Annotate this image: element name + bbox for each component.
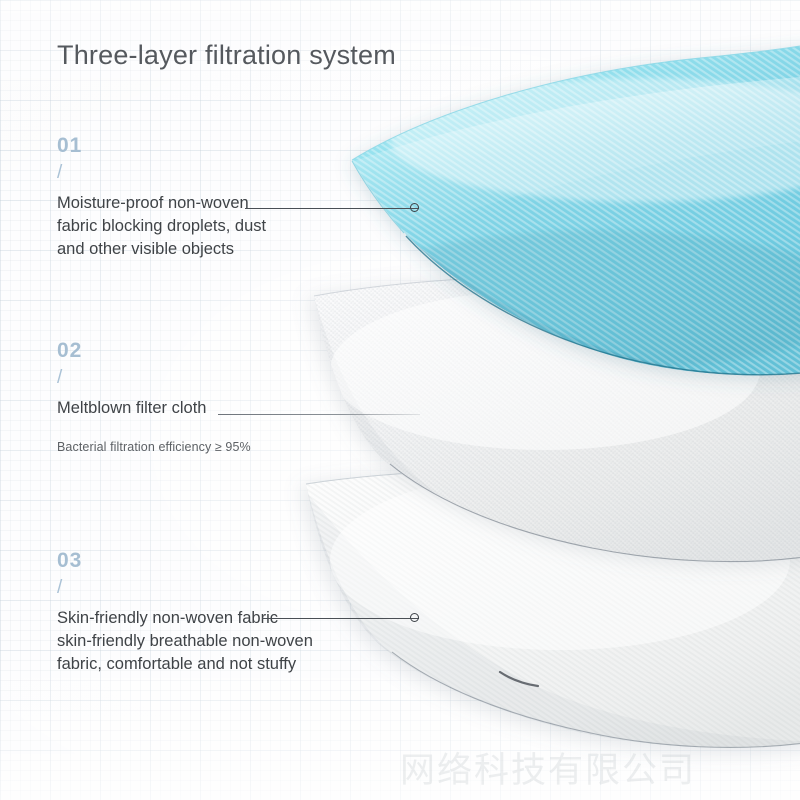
section-separator-03: / [57,578,313,597]
section-separator-02: / [57,368,251,387]
section-separator-01: / [57,163,266,182]
connector-line-01 [245,202,419,216]
layer-section-01: 01 / Moisture-proof non-woven fabric blo… [57,135,266,261]
connector-line-02 [218,408,420,422]
connector-stroke-03 [262,618,419,619]
section-number-01: 01 [57,135,266,156]
connector-stroke-02 [218,414,420,415]
page-title: Three-layer filtration system [57,40,396,71]
connector-line-03 [262,612,419,626]
section-headline-01: Moisture-proof non-woven fabric blocking… [57,192,266,261]
connector-stroke-01 [245,208,419,209]
connector-endpoint-circle-icon-03 [410,613,419,622]
connector-endpoint-circle-icon-01 [410,203,419,212]
layer-section-02: 02 / Meltblown filter cloth Bacterial fi… [57,340,251,454]
section-number-02: 02 [57,340,251,361]
section-number-03: 03 [57,550,313,571]
section-subnote-02: Bacterial filtration efficiency ≥ 95% [57,440,251,454]
